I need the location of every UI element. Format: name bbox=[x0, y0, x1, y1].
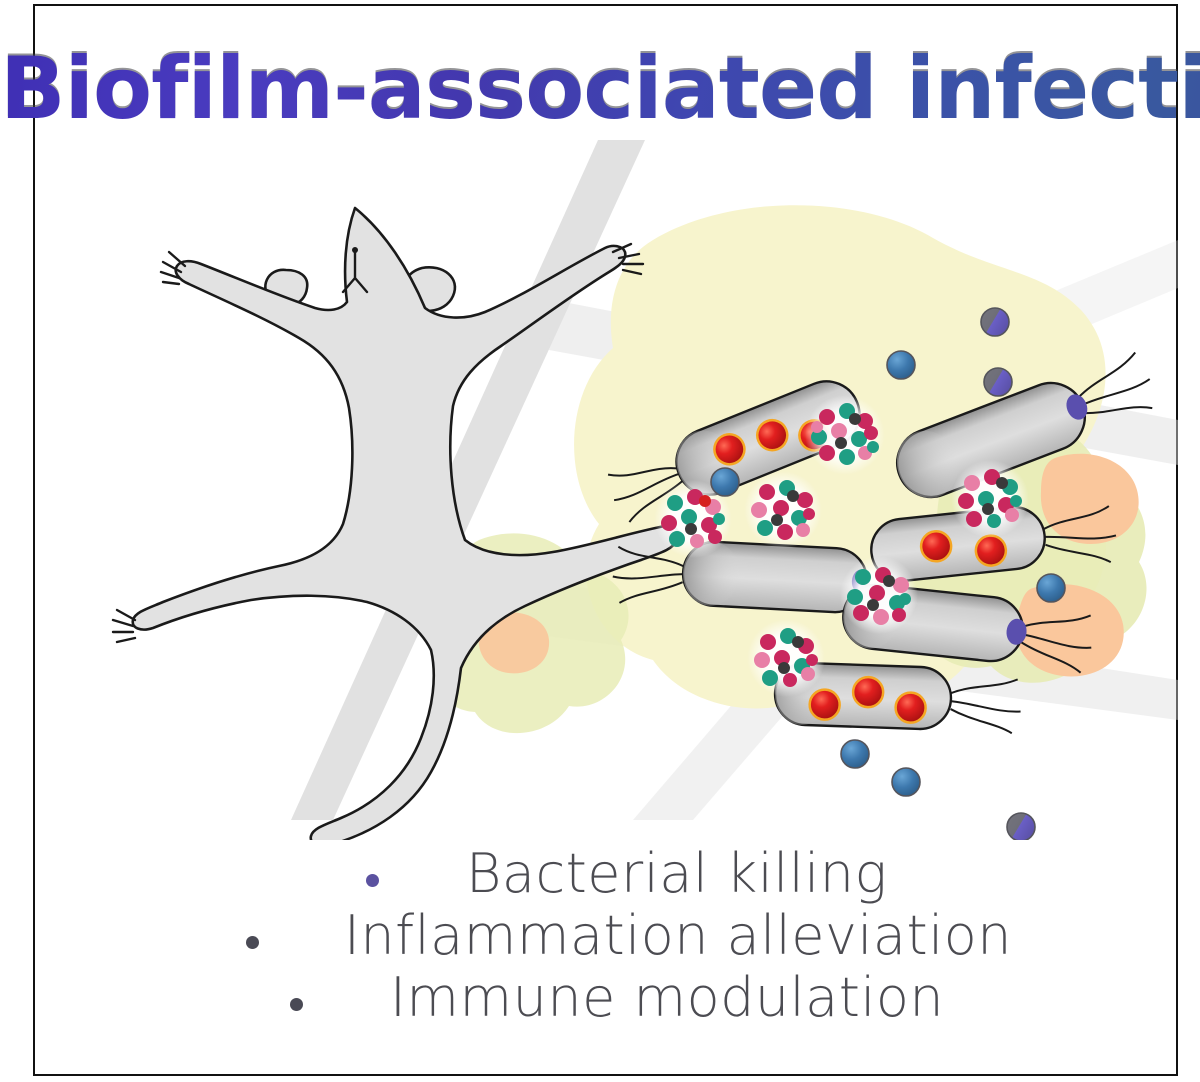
sphere-violet bbox=[1007, 813, 1035, 840]
bullet-dot-icon bbox=[246, 936, 259, 949]
bacteria-granule bbox=[853, 677, 884, 708]
sphere-blue bbox=[1037, 574, 1065, 602]
sphere-blue bbox=[711, 468, 739, 496]
nanoparticle-cluster bbox=[951, 460, 1029, 538]
mouse-foot-left-claws bbox=[113, 610, 135, 642]
list-item: Inflammation alleviation bbox=[0, 910, 1200, 972]
illustration-svg bbox=[33, 120, 1178, 840]
poster-canvas: Biofilm-associated infections bbox=[0, 0, 1200, 1082]
nanoparticle-cluster bbox=[744, 471, 822, 549]
benefits-list: Bacterial killing Inflammation alleviati… bbox=[0, 848, 1200, 1034]
biofilm-infection-illustration bbox=[33, 120, 1178, 840]
nanoparticle-cluster bbox=[840, 556, 918, 634]
list-item: Immune modulation bbox=[0, 972, 1200, 1034]
bacteria-granule bbox=[809, 689, 840, 720]
mouse-dorsal-view bbox=[133, 208, 679, 840]
bullet-dot-icon bbox=[290, 998, 303, 1011]
biofilm-blob-peach-1 bbox=[1041, 454, 1139, 544]
sphere-blue bbox=[892, 768, 920, 796]
sphere-blue bbox=[841, 740, 869, 768]
mouse-nose-dot bbox=[352, 247, 358, 253]
list-item: Bacterial killing bbox=[0, 848, 1200, 910]
list-item-label: Inflammation alleviation bbox=[344, 904, 1012, 967]
nanoparticle-cluster bbox=[747, 619, 825, 697]
bacteria-granule bbox=[895, 692, 926, 723]
list-item-label: Bacterial killing bbox=[466, 842, 887, 905]
mouse-body bbox=[133, 208, 679, 840]
list-item-label: Immune modulation bbox=[390, 966, 944, 1029]
sphere-blue bbox=[887, 351, 915, 379]
sphere-violet bbox=[984, 368, 1012, 396]
bullet-dot-icon bbox=[366, 874, 379, 887]
sphere-violet bbox=[981, 308, 1009, 336]
nanoparticle-cluster bbox=[805, 395, 885, 475]
